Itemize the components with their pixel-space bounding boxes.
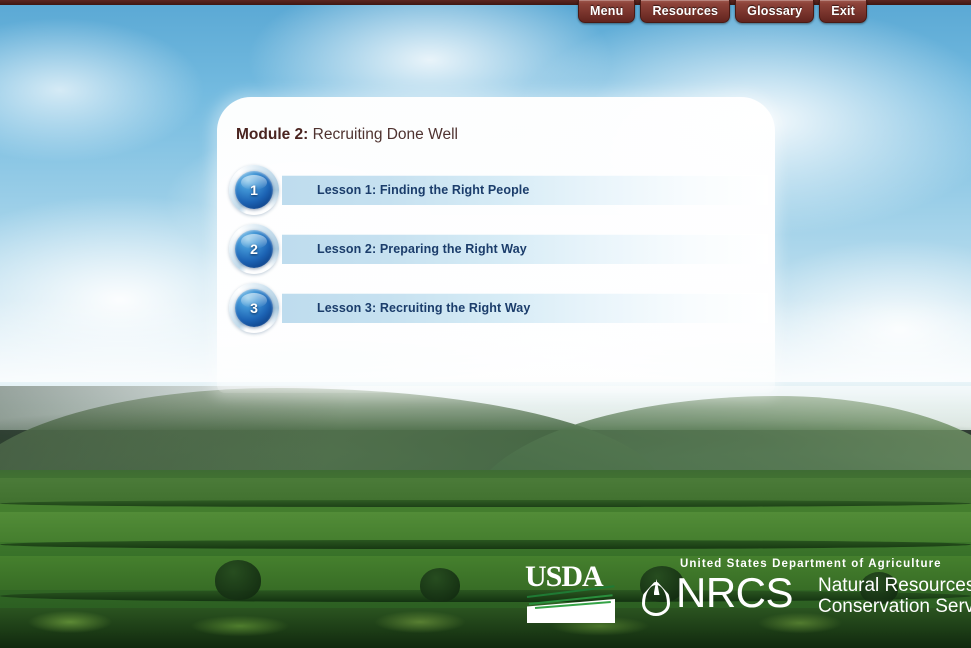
exit-button[interactable]: Exit — [819, 0, 867, 23]
nrcs-acronym: NRCS — [676, 572, 793, 614]
nrcs-logo: United States Department of Agriculture … — [640, 558, 970, 628]
nrcs-line-1: Natural Resources — [818, 575, 971, 596]
top-navigation: Menu Resources Glossary Exit — [578, 0, 867, 23]
lesson-number-badge[interactable]: 1 — [228, 164, 280, 216]
lesson-number: 2 — [250, 242, 258, 256]
agency-logos: USDA United States Department of Agricul… — [525, 558, 965, 628]
lesson-row[interactable]: Lesson 3: Recruiting the Right Way 3 — [228, 282, 768, 334]
badge-disc: 1 — [235, 171, 273, 209]
lesson-row[interactable]: Lesson 1: Finding the Right People 1 — [228, 164, 768, 216]
content-card: Module 2: Recruiting Done Well Lesson 1:… — [217, 97, 775, 393]
page-title: Module 2: Recruiting Done Well — [236, 126, 458, 144]
tree-clump — [215, 560, 261, 600]
lesson-bar[interactable]: Lesson 1: Finding the Right People — [282, 175, 768, 205]
nrcs-line-2: Conservation Service — [818, 596, 971, 617]
usda-logo: USDA — [525, 562, 617, 624]
lesson-row[interactable]: Lesson 2: Preparing the Right Way 2 — [228, 223, 768, 275]
badge-disc: 3 — [235, 289, 273, 327]
menu-button[interactable]: Menu — [578, 0, 635, 23]
course-player-stage: Menu Resources Glossary Exit Module 2: R… — [0, 0, 971, 648]
field-band — [0, 512, 971, 542]
lesson-bar[interactable]: Lesson 3: Recruiting the Right Way — [282, 293, 768, 323]
module-name: Recruiting Done Well — [313, 126, 458, 143]
lesson-label: Lesson 3: Recruiting the Right Way — [317, 293, 530, 323]
lesson-label: Lesson 1: Finding the Right People — [317, 175, 529, 205]
glossary-button[interactable]: Glossary — [735, 0, 814, 23]
lesson-number: 1 — [250, 183, 258, 197]
lesson-number-badge[interactable]: 3 — [228, 282, 280, 334]
lesson-label: Lesson 2: Preparing the Right Way — [317, 234, 527, 264]
lesson-number: 3 — [250, 301, 258, 315]
badge-disc: 2 — [235, 230, 273, 268]
lesson-bar[interactable]: Lesson 2: Preparing the Right Way — [282, 234, 768, 264]
module-label: Module 2: — [236, 126, 308, 143]
hedgerow — [0, 500, 971, 507]
lesson-number-badge[interactable]: 2 — [228, 223, 280, 275]
hedgerow — [0, 540, 971, 549]
nrcs-full-name: Natural ResourcesConservation Service — [818, 575, 971, 617]
resources-button[interactable]: Resources — [640, 0, 730, 23]
water-drop-icon — [640, 580, 673, 620]
tree-clump — [420, 568, 460, 602]
